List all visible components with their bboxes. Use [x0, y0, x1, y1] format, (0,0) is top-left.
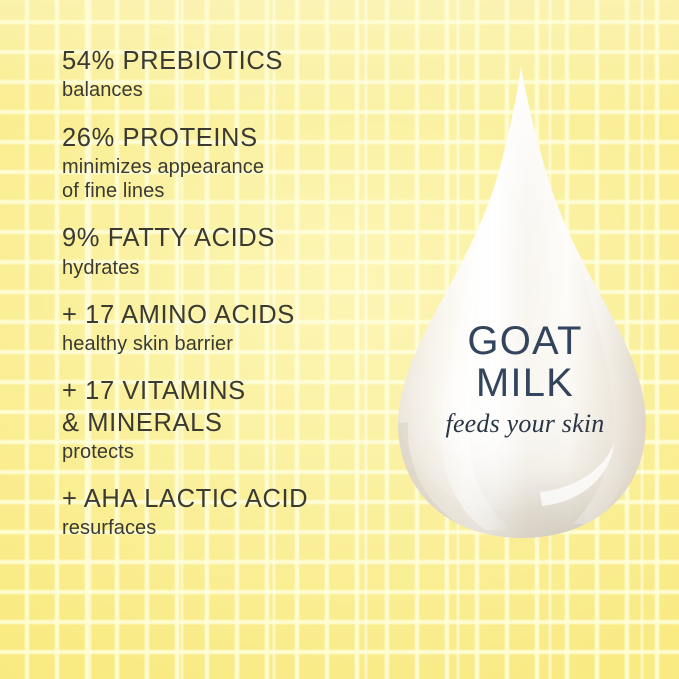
ingredient-description: minimizes appearance of fine lines	[62, 155, 382, 204]
ingredient-description: protects	[62, 440, 382, 464]
ingredient-item-proteins: 26% PROTEINS minimizes appearance of fin…	[62, 123, 382, 204]
ingredient-item-prebiotics: 54% PREBIOTICS balances	[62, 46, 382, 103]
ingredient-title: 54% PREBIOTICS	[62, 46, 382, 77]
ingredient-title: + 17 AMINO ACIDS	[62, 300, 382, 331]
ingredient-title: + 17 VITAMINS & MINERALS	[62, 376, 382, 438]
ingredient-description: healthy skin barrier	[62, 332, 382, 356]
ingredient-item-vitamins-minerals: + 17 VITAMINS & MINERALS protects	[62, 376, 382, 464]
ingredient-title: 9% FATTY ACIDS	[62, 223, 382, 254]
ingredient-description: balances	[62, 78, 382, 102]
ingredient-title: 26% PROTEINS	[62, 123, 382, 154]
ingredient-title: + AHA LACTIC ACID	[62, 484, 382, 515]
ingredient-item-fatty-acids: 9% FATTY ACIDS hydrates	[62, 223, 382, 280]
ingredient-item-aha-lactic-acid: + AHA LACTIC ACID resurfaces	[62, 484, 382, 541]
milk-droplet-icon	[390, 60, 660, 550]
ingredient-infographic: 54% PREBIOTICS balances 26% PROTEINS min…	[0, 0, 679, 679]
ingredient-description: resurfaces	[62, 516, 382, 540]
ingredient-list: 54% PREBIOTICS balances 26% PROTEINS min…	[62, 46, 382, 541]
ingredient-description: hydrates	[62, 256, 382, 280]
ingredient-item-amino-acids: + 17 AMINO ACIDS healthy skin barrier	[62, 300, 382, 357]
